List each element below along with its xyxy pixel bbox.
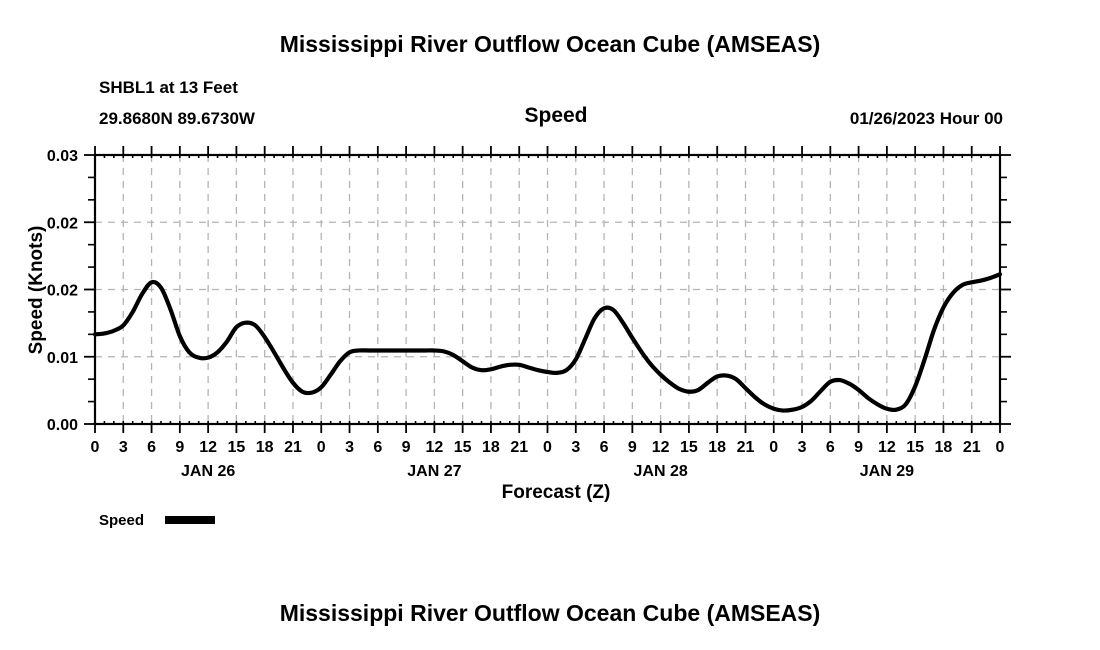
x-tick-label: 12 [199, 439, 217, 456]
speed-timeseries-figure: Mississippi River Outflow Ocean Cube (AM… [0, 0, 1100, 650]
y-tick-label: 0.00 [47, 417, 78, 434]
x-axis-day-label: JAN 26 [181, 463, 235, 480]
x-tick-label: 3 [798, 439, 807, 456]
x-tick-label: 9 [175, 439, 184, 456]
x-tick-label: 6 [373, 439, 382, 456]
x-tick-label: 18 [256, 439, 274, 456]
x-tick-label: 6 [826, 439, 835, 456]
x-tick-label: 3 [119, 439, 128, 456]
x-axis-day-label: JAN 27 [407, 463, 461, 480]
y-axis-title: Speed (Knots) [26, 226, 47, 355]
x-tick-label: 12 [425, 439, 443, 456]
x-tick-label: 15 [454, 439, 472, 456]
x-tick-label: 18 [482, 439, 500, 456]
y-tick-label: 0.02 [47, 283, 78, 300]
station-depth-label: SHBL1 at 13 Feet [99, 78, 238, 97]
variable-label: Speed [524, 104, 587, 127]
x-tick-label: 6 [600, 439, 609, 456]
y-tick-label: 0.02 [47, 215, 78, 232]
x-tick-label: 21 [510, 439, 528, 456]
x-axis-day-label: JAN 29 [860, 463, 914, 480]
x-tick-label: 21 [284, 439, 302, 456]
x-axis-day-label: JAN 28 [634, 463, 688, 480]
x-tick-label: 15 [228, 439, 246, 456]
x-tick-label: 9 [854, 439, 863, 456]
x-tick-label: 0 [996, 439, 1005, 456]
x-tick-label: 3 [571, 439, 580, 456]
y-tick-label: 0.03 [47, 148, 78, 165]
x-tick-label: 15 [906, 439, 924, 456]
x-tick-label: 0 [91, 439, 100, 456]
x-tick-label: 18 [708, 439, 726, 456]
x-tick-label: 3 [345, 439, 354, 456]
x-tick-label: 6 [147, 439, 156, 456]
footer-title: Mississippi River Outflow Ocean Cube (AM… [280, 600, 821, 626]
x-tick-label: 12 [878, 439, 896, 456]
y-tick-label: 0.01 [47, 350, 78, 367]
x-tick-label: 0 [543, 439, 552, 456]
x-tick-label: 21 [737, 439, 755, 456]
legend-entry-label: Speed [99, 512, 144, 529]
x-tick-label: 18 [935, 439, 953, 456]
page-title: Mississippi River Outflow Ocean Cube (AM… [280, 31, 821, 57]
x-tick-label: 15 [680, 439, 698, 456]
model-run-label: 01/26/2023 Hour 00 [850, 109, 1003, 128]
coordinates-label: 29.8680N 89.6730W [99, 109, 256, 128]
x-tick-label: 0 [769, 439, 778, 456]
x-tick-label: 21 [963, 439, 981, 456]
x-axis-title: Forecast (Z) [502, 482, 611, 503]
x-tick-label: 0 [317, 439, 326, 456]
x-tick-label: 12 [652, 439, 670, 456]
x-tick-label: 9 [402, 439, 411, 456]
x-tick-label: 9 [628, 439, 637, 456]
